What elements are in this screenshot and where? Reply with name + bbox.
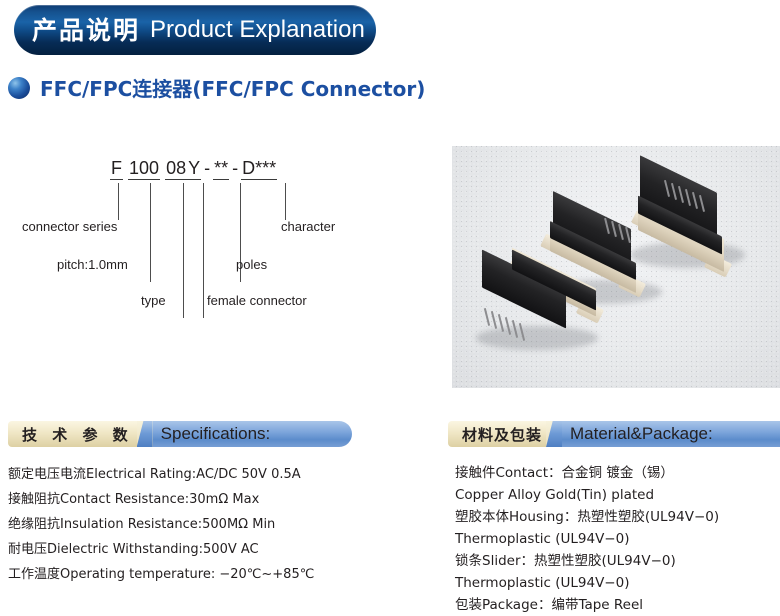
part-number-breakdown-diagram: F 100 08Y-**-D*** connector series pitch… (0, 140, 440, 325)
specifications-header-cn: 技 术 参 数 (22, 424, 133, 445)
banner-title-cn: 产品说明 (32, 18, 140, 43)
product-photo (452, 146, 780, 388)
material-row: Thermoplastic (UL94V−0) (455, 572, 780, 594)
pn-label-poles: poles (236, 257, 267, 272)
page-title-banner: 产品说明 Product Explanation (14, 5, 376, 55)
pn-label-female-connector: female connector (207, 293, 307, 308)
material-row: Thermoplastic (UL94V−0) (455, 528, 780, 550)
material-row: 包装Package：编带Tape Reel (455, 594, 780, 616)
specifications-section-header: 技 术 参 数 Specifications: (8, 421, 352, 447)
material-package-section-header: 材料及包装 Material&Package: (448, 421, 780, 447)
pn-label-pitch: pitch:1.0mm (57, 257, 128, 272)
spec-row: 耐电压Dielectric Withstanding:500V AC (8, 537, 428, 562)
pn-separator-1: - (201, 158, 213, 178)
material-row: 接触件Contact：合金铜 镀金（锡） (455, 462, 780, 484)
product-heading: FFC/FPC连接器(FFC/FPC Connector) (8, 73, 425, 102)
specifications-header-cn-panel: 技 术 参 数 (8, 421, 137, 447)
material-package-header-slash-divider (546, 421, 562, 447)
pn-segment-gender: Y (187, 158, 201, 180)
pn-label-character: character (281, 219, 335, 234)
pn-label-connector-series: connector series (22, 219, 117, 234)
leader-line-character (285, 183, 286, 220)
connector-part-front (478, 264, 598, 359)
specifications-list: 额定电压电流Electrical Rating:AC/DC 50V 0.5A 接… (8, 462, 428, 587)
specifications-header-slash-divider (137, 421, 153, 447)
specifications-header-en: Specifications: (161, 424, 271, 444)
pn-segment-poles: ** (213, 158, 229, 180)
leader-line-pitch (150, 183, 151, 282)
material-row: 塑胶本体Housing：热塑性塑胶(UL94V−0) (455, 506, 780, 528)
blue-sphere-bullet-icon (8, 77, 30, 99)
pn-segment-pitch: 100 (128, 158, 160, 180)
pn-segment-type: 08 (165, 158, 187, 180)
spec-row: 工作温度Operating temperature: −20℃~+85℃ (8, 562, 428, 587)
material-package-header-cn: 材料及包装 (462, 424, 542, 445)
banner-title-en: Product Explanation (150, 18, 365, 42)
leader-line-type (183, 183, 184, 318)
material-package-header-cn-panel: 材料及包装 (448, 421, 546, 447)
part-number-code: F 100 08Y-**-D*** (110, 158, 277, 179)
pn-separator-2: - (229, 158, 241, 178)
pn-segment-series: F (110, 158, 123, 180)
material-row: Copper Alloy Gold(Tin) plated (455, 484, 780, 506)
material-package-header-en-panel: Material&Package: (562, 421, 780, 447)
material-package-header-en: Material&Package: (570, 424, 713, 444)
pn-label-type: type (141, 293, 166, 308)
specifications-header-en-panel: Specifications: (153, 421, 352, 447)
pn-segment-character: D*** (241, 158, 277, 180)
product-heading-label: FFC/FPC连接器(FFC/FPC Connector) (40, 73, 425, 102)
material-package-list: 接触件Contact：合金铜 镀金（锡） Copper Alloy Gold(T… (455, 462, 780, 616)
material-row: 锁条Slider：热塑性塑胶(UL94V−0) (455, 550, 780, 572)
spec-row: 接触阻抗Contact Resistance:30mΩ Max (8, 487, 428, 512)
spec-row: 绝缘阻抗Insulation Resistance:500MΩ Min (8, 512, 428, 537)
leader-line-connector-series (118, 183, 119, 220)
leader-line-female-connector (203, 183, 204, 318)
spec-row: 额定电压电流Electrical Rating:AC/DC 50V 0.5A (8, 462, 428, 487)
